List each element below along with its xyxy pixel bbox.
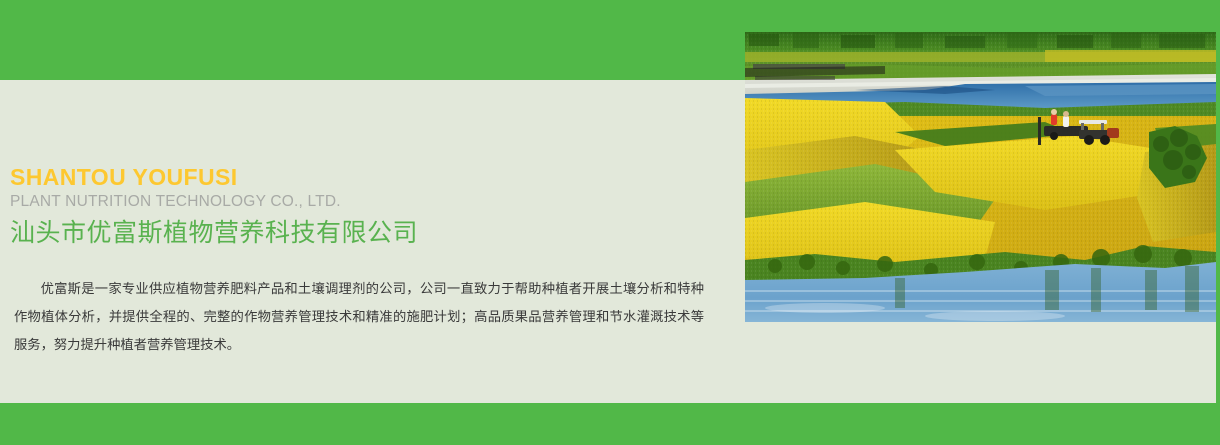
brand-english-subtitle: PLANT NUTRITION TECHNOLOGY CO., LTD. [10, 191, 710, 213]
rice-paddy-photo [745, 32, 1216, 322]
brand-block: SHANTOU YOUFUSI PLANT NUTRITION TECHNOLO… [10, 163, 710, 249]
brand-chinese-name: 汕头市优富斯植物营养科技有限公司 [10, 217, 710, 249]
footer-green-bar [0, 403, 1220, 445]
page-root: SHANTOU YOUFUSI PLANT NUTRITION TECHNOLO… [0, 0, 1220, 445]
right-edge-green-strip [1216, 0, 1220, 445]
rice-paddy-illustration [745, 32, 1216, 322]
brand-english-name: SHANTOU YOUFUSI [10, 163, 710, 191]
company-intro-paragraph: 优富斯是一家专业供应植物营养肥料产品和土壤调理剂的公司，公司一直致力于帮助种植者… [14, 275, 704, 359]
